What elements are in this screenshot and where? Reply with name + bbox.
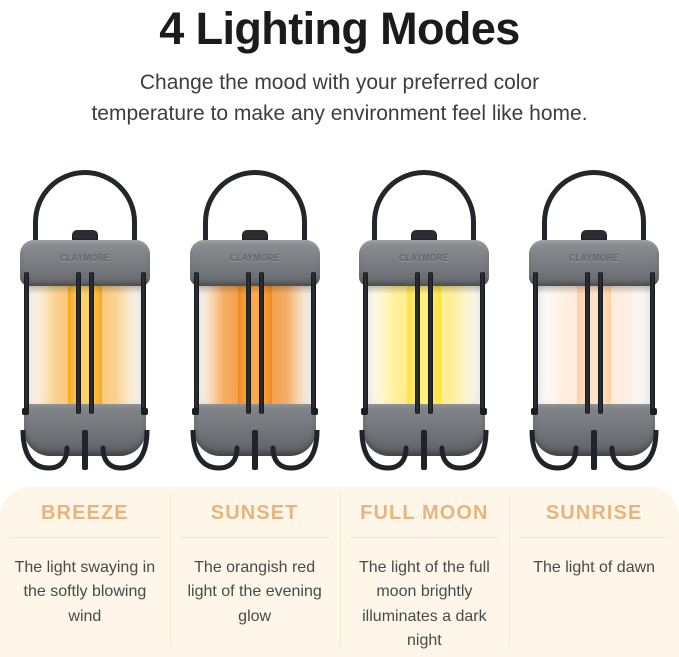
lantern-legs-icon <box>354 430 494 474</box>
lantern-top-cap: CLAYMORE <box>529 240 659 286</box>
cage-bar-center-b <box>259 272 264 414</box>
mode-column-sunset: SUNSET The orangish red light of the eve… <box>170 487 340 657</box>
cage-knob-left <box>22 408 29 415</box>
cage-bar-left <box>24 272 29 414</box>
cage-knob-left <box>361 408 368 415</box>
brand-logo-text: CLAYMORE <box>541 253 648 264</box>
mode-title: FULL MOON <box>348 503 502 537</box>
lantern-glass-cylinder <box>29 280 141 408</box>
subtitle-line-1: Change the mood with your preferred colo… <box>30 68 650 98</box>
mode-description: The orangish red light of the evening gl… <box>178 556 332 629</box>
mode-title: BREEZE <box>8 503 162 537</box>
brand-logo-text: CLAYMORE <box>201 253 308 264</box>
mode-caption-panel: BREEZE The light swaying in the softly b… <box>0 487 679 657</box>
cage-knob-left <box>192 408 199 415</box>
cage-bar-right <box>311 272 316 414</box>
cage-knob-right <box>650 408 657 415</box>
lantern-product-image: CLAYMORE <box>180 168 330 468</box>
mode-description: The light swaying in the softly blowing … <box>8 556 162 629</box>
cage-bar-left <box>533 272 538 414</box>
lantern-product-image: CLAYMORE <box>10 168 160 468</box>
lantern-image-row: CLAYMORE <box>0 160 679 480</box>
lantern-cell-full-moon: CLAYMORE <box>340 160 510 480</box>
lantern-glass-cylinder <box>199 280 311 408</box>
mode-divider <box>180 537 330 538</box>
lantern-product-image: CLAYMORE <box>349 168 499 468</box>
mode-divider <box>350 537 500 538</box>
page-subtitle: Change the mood with your preferred colo… <box>30 68 650 129</box>
cage-bar-center-b <box>89 272 94 414</box>
mode-title: SUNRISE <box>517 503 671 537</box>
led-tube-2 <box>407 280 441 408</box>
mode-description: The light of the full moon brightly illu… <box>348 556 502 653</box>
cage-bar-right <box>480 272 485 414</box>
mode-column-full-moon: FULL MOON The light of the full moon bri… <box>340 487 510 657</box>
lantern-top-cap: CLAYMORE <box>190 240 320 286</box>
mode-column-breeze: BREEZE The light swaying in the softly b… <box>0 487 170 657</box>
lantern-top-cap: CLAYMORE <box>359 240 489 286</box>
brand-logo-text: CLAYMORE <box>371 253 478 264</box>
led-tube-0 <box>68 280 102 408</box>
page-title: 4 Lighting Modes <box>0 4 679 54</box>
cage-knob-right <box>311 408 318 415</box>
led-tube-3 <box>577 280 611 408</box>
lantern-legs-icon <box>15 430 155 474</box>
cage-bar-center-a <box>585 272 590 414</box>
lantern-glass-cylinder <box>538 280 650 408</box>
lantern-cell-sunset: CLAYMORE <box>170 160 340 480</box>
led-tube-1 <box>238 280 272 408</box>
lantern-legs-icon <box>185 430 325 474</box>
mode-description: The light of dawn <box>517 556 671 580</box>
lantern-top-cap: CLAYMORE <box>20 240 150 286</box>
subtitle-line-2: temperature to make any environment feel… <box>30 99 650 129</box>
cage-knob-right <box>480 408 487 415</box>
lantern-glass-cylinder <box>368 280 480 408</box>
mode-title: SUNSET <box>178 503 332 537</box>
cage-bar-center-b <box>598 272 603 414</box>
lantern-cell-sunrise: CLAYMORE <box>509 160 679 480</box>
cage-bar-center-a <box>246 272 251 414</box>
mode-column-sunrise: SUNRISE The light of dawn <box>509 487 679 657</box>
lantern-product-image: CLAYMORE <box>519 168 669 468</box>
cage-bar-center-b <box>428 272 433 414</box>
brand-logo-text: CLAYMORE <box>32 253 139 264</box>
lantern-legs-icon <box>524 430 664 474</box>
cage-bar-center-a <box>76 272 81 414</box>
cage-knob-left <box>531 408 538 415</box>
lantern-cell-breeze: CLAYMORE <box>0 160 170 480</box>
cage-bar-left <box>194 272 199 414</box>
mode-divider <box>519 537 669 538</box>
cage-bar-right <box>650 272 655 414</box>
header: 4 Lighting Modes Change the mood with yo… <box>0 0 679 129</box>
cage-bar-center-a <box>415 272 420 414</box>
cage-bar-left <box>363 272 368 414</box>
cage-bar-right <box>141 272 146 414</box>
cage-knob-right <box>141 408 148 415</box>
mode-divider <box>10 537 160 538</box>
